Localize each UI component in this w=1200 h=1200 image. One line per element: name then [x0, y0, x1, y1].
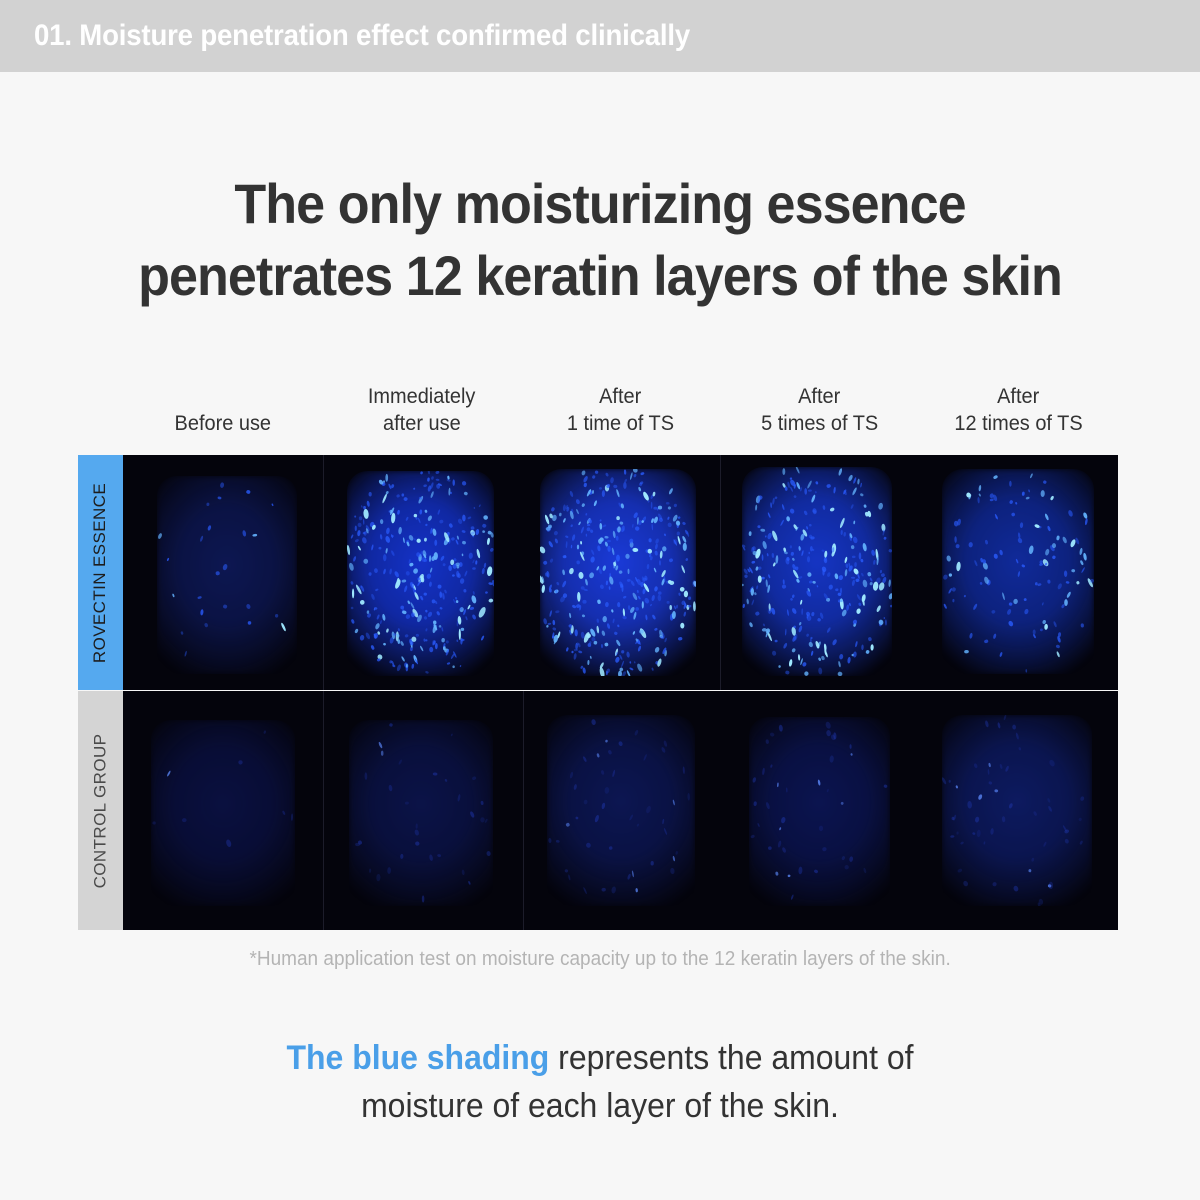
column-header-line-2: 1 time of TS — [567, 410, 674, 437]
skin-sample-blob — [347, 471, 495, 675]
speckle-layer — [547, 715, 695, 906]
row-label-control-group: CONTROL GROUP — [78, 691, 123, 930]
row-label-text: ROVECTIN ESSENCE — [91, 482, 111, 662]
column-header-before-use: Before use — [123, 375, 322, 437]
speckle-layer — [151, 720, 295, 906]
headline-line-2: penetrates 12 keratin layers of the skin — [42, 240, 1158, 312]
grid-row-control-group: CONTROL GROUP — [78, 691, 1118, 930]
row-label-text: CONTROL GROUP — [91, 733, 111, 888]
column-header-line-1: After — [997, 383, 1039, 410]
caption-line-1: The blue shading represents the amount o… — [36, 1034, 1164, 1082]
caption: The blue shading represents the amount o… — [0, 1034, 1200, 1130]
column-header-line-2: 12 times of TS — [954, 410, 1082, 437]
fluorescence-panel — [323, 691, 523, 930]
column-header-after-5-times: After 5 times of TS — [720, 375, 919, 437]
fluorescence-panel — [920, 691, 1118, 930]
speckle-layer — [347, 471, 495, 675]
speckle-layer — [942, 469, 1094, 673]
skin-sample-blob — [742, 467, 892, 676]
fluorescence-panel — [523, 691, 723, 930]
skin-sample-blob — [157, 476, 297, 673]
fluorescence-panel — [123, 691, 323, 930]
speckle-layer — [540, 469, 696, 676]
fluorescence-panel — [723, 691, 920, 930]
footnote: *Human application test on moisture capa… — [0, 948, 1200, 971]
column-header-immediately-after-use: Immediately after use — [322, 375, 521, 437]
fluorescence-panel — [918, 455, 1118, 690]
headline-line-1: The only moisturizing essence — [42, 168, 1158, 240]
column-header-line-2: Before use — [174, 410, 270, 437]
fluorescence-panel — [323, 455, 520, 690]
speckle-layer — [157, 476, 297, 673]
fluorescence-panel-grid: ROVECTIN ESSENCE CONTROL GROUP — [78, 455, 1118, 930]
skin-sample-blob — [749, 717, 891, 906]
fluorescence-panel — [123, 455, 323, 690]
footnote-text: *Human application test on moisture capa… — [249, 948, 950, 971]
column-header-line-2: 5 times of TS — [761, 410, 878, 437]
skin-sample-blob — [540, 469, 696, 676]
speckle-layer — [742, 467, 892, 676]
row-label-rovectin-essence: ROVECTIN ESSENCE — [78, 455, 123, 690]
header-bar: 01. Moisture penetration effect confirme… — [0, 0, 1200, 72]
column-header-line-2: after use — [383, 410, 461, 437]
skin-sample-blob — [942, 715, 1092, 906]
column-header-line-1: Immediately — [368, 383, 476, 410]
column-header-after-1-time: After 1 time of TS — [521, 375, 720, 437]
row-strip-control-group — [123, 691, 1118, 930]
skin-sample-blob — [547, 715, 695, 906]
caption-accent: The blue shading — [286, 1039, 549, 1077]
page-headline: The only moisturizing essence penetrates… — [0, 168, 1200, 312]
fluorescence-panel — [720, 455, 918, 690]
fluorescence-panel — [520, 455, 720, 690]
caption-line-2: moisture of each layer of the skin. — [36, 1082, 1164, 1130]
speckle-layer — [942, 715, 1092, 906]
grid-row-rovectin-essence: ROVECTIN ESSENCE — [78, 455, 1118, 690]
speckle-layer — [749, 717, 891, 906]
skin-sample-blob — [151, 720, 295, 906]
row-strip-rovectin-essence — [123, 455, 1118, 690]
header-title: 01. Moisture penetration effect confirme… — [34, 19, 690, 53]
speckle-layer — [349, 720, 493, 906]
column-header-line-1: After — [798, 383, 840, 410]
skin-sample-blob — [349, 720, 493, 906]
column-header-line-1: After — [599, 383, 641, 410]
column-headers: Before use Immediately after use After 1… — [123, 375, 1118, 437]
caption-line-1-rest: represents the amount of — [549, 1039, 913, 1077]
skin-sample-blob — [942, 469, 1094, 673]
column-header-after-12-times: After 12 times of TS — [919, 375, 1118, 437]
